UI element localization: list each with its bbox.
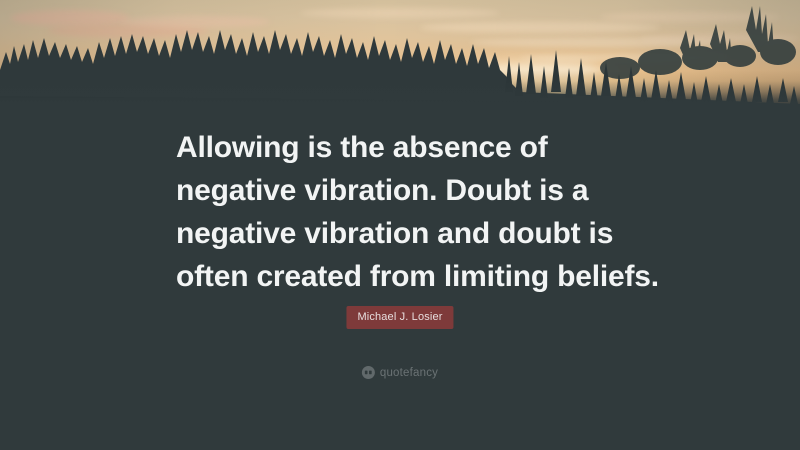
background-photo — [0, 0, 800, 135]
quotefancy-label: quotefancy — [380, 367, 438, 379]
quote-image-canvas: Allowing is the absence of negative vibr… — [0, 0, 800, 450]
quote-line: Allowing is the absence of — [176, 126, 646, 169]
deciduous-trees-right — [600, 6, 796, 79]
author-badge[interactable]: Michael J. Losier — [346, 306, 453, 329]
quote-mark-icon — [362, 366, 375, 379]
quote-line: negative vibration. Doubt is a — [176, 169, 646, 212]
forest-silhouette — [0, 0, 800, 135]
quote-line: negative vibration and doubt is — [176, 212, 646, 255]
quote-line: often created from limiting beliefs. — [176, 255, 646, 298]
quotefancy-watermark[interactable]: quotefancy — [362, 366, 438, 379]
quote-text-block: Allowing is the absence of negative vibr… — [176, 126, 646, 298]
